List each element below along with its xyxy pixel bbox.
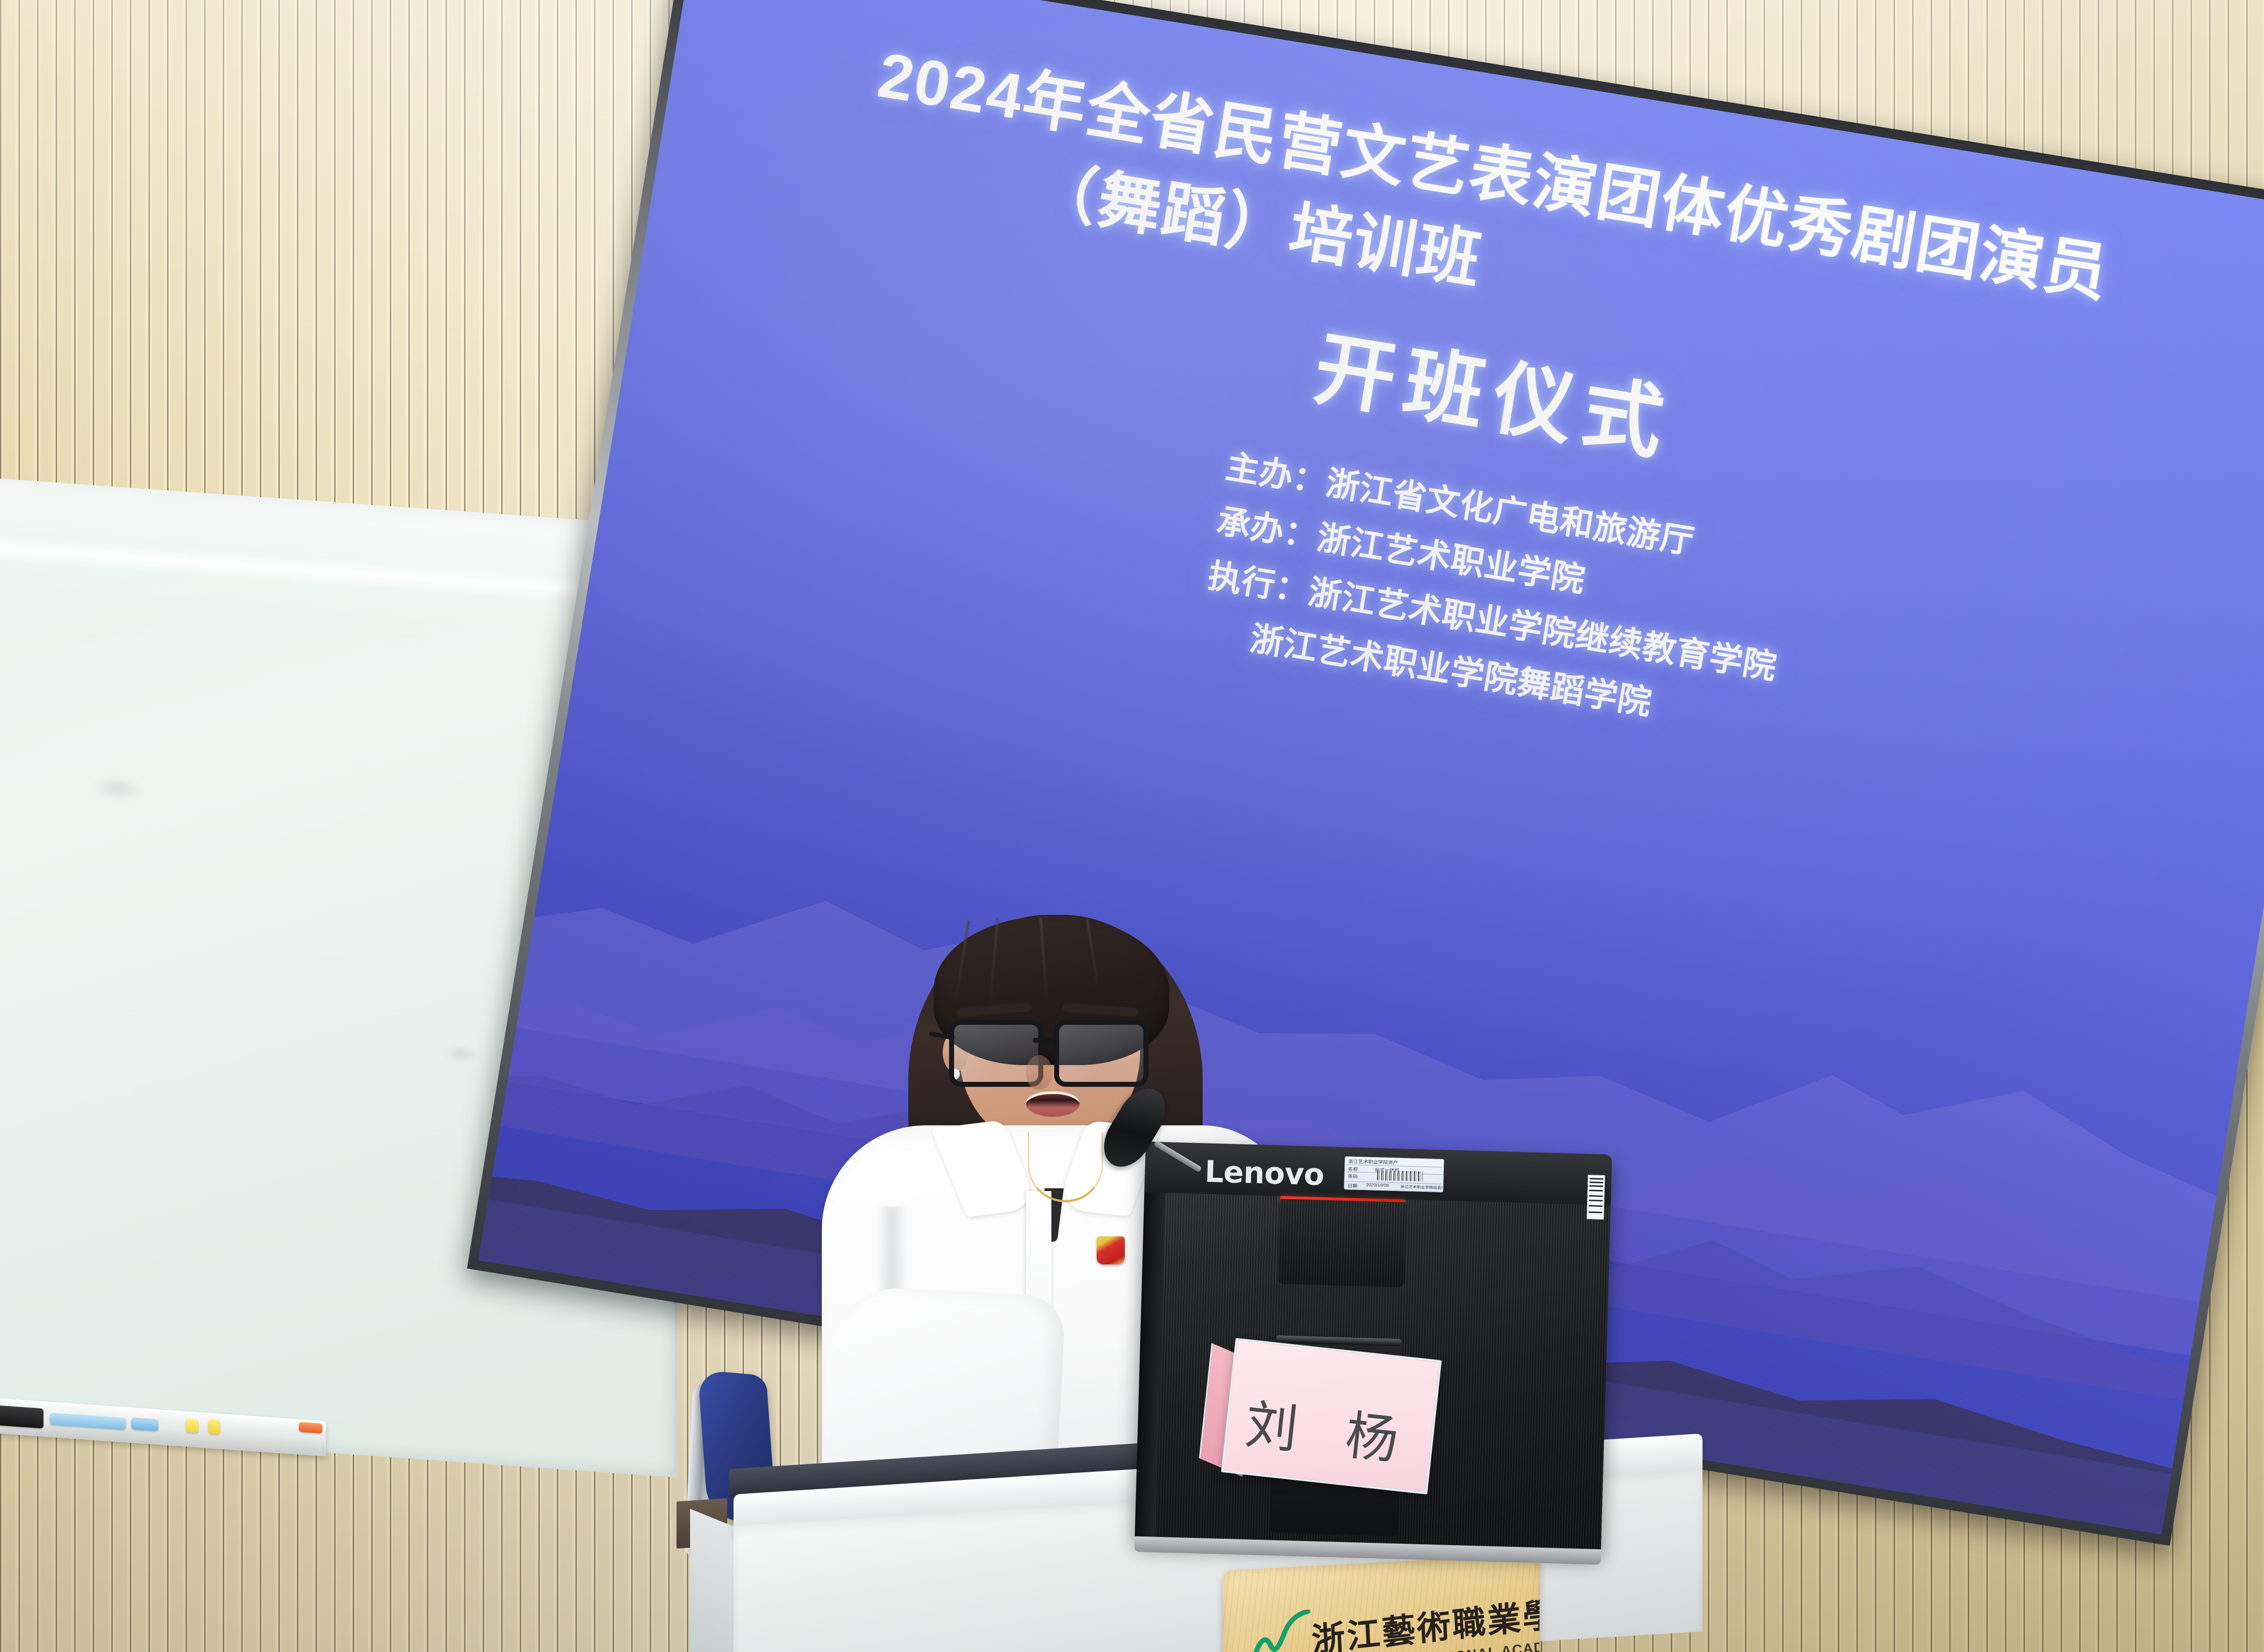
asset-date-label: 日期 bbox=[1348, 1182, 1357, 1189]
eyeglass-bridge bbox=[1033, 1038, 1055, 1043]
monitor-stand-housing bbox=[1278, 1199, 1407, 1287]
hair-strand bbox=[1039, 917, 1048, 1004]
asset-code-label: 条码 bbox=[1348, 1173, 1357, 1180]
podium-left-side bbox=[690, 1509, 740, 1652]
marker-blue[interactable] bbox=[131, 1417, 158, 1431]
whiteboard-eraser[interactable] bbox=[0, 1404, 43, 1428]
lenovo-logo: Lenovo bbox=[1204, 1154, 1325, 1192]
hair-strand bbox=[955, 921, 970, 1002]
name-card-face: 刘 杨 bbox=[1221, 1338, 1442, 1494]
asset-date-value: 2020/10/08 bbox=[1366, 1183, 1389, 1188]
eyeglass-lens-right bbox=[1054, 1020, 1148, 1087]
hair-strand bbox=[988, 918, 998, 1009]
presentation-room-photo: 2024年全省民营文艺表演团体优秀剧团演员 （舞蹈）培训班 开班仪式 主办：浙江… bbox=[0, 0, 2264, 1652]
microphone-stem bbox=[1153, 1140, 1202, 1173]
name-card-name: 刘 杨 bbox=[1225, 1380, 1435, 1477]
asset-dept-value: 浙江艺术职业学院信息中心 bbox=[1401, 1184, 1444, 1191]
gooseneck-microphone[interactable] bbox=[1100, 1085, 1204, 1220]
asset-tag-sticker: 浙江艺术职业学院资产 名称 台式一体机 条码 日期 2020/10/08 浙江艺… bbox=[1344, 1156, 1444, 1192]
party-emblem-pin bbox=[1097, 1236, 1125, 1264]
hair-strand bbox=[1086, 920, 1101, 996]
microphone-windscreen bbox=[1094, 1080, 1175, 1176]
whiteboard-smudge bbox=[91, 775, 145, 802]
marker-blue[interactable] bbox=[50, 1412, 126, 1430]
academy-plaque: 浙江藝術職業學院 ZHEJIANG VOCATIONAL ACADEMY OF … bbox=[1222, 1554, 1540, 1652]
nose bbox=[1026, 1055, 1052, 1090]
slide-heading: 开班仪式 bbox=[1307, 303, 1682, 476]
barcode bbox=[1377, 1170, 1423, 1181]
mouth bbox=[1026, 1091, 1079, 1117]
marker-orange[interactable] bbox=[299, 1422, 322, 1434]
marker-yellow[interactable] bbox=[208, 1419, 220, 1435]
monitor-qr-sticker bbox=[1587, 1175, 1605, 1220]
whiteboard-smudge bbox=[444, 1044, 480, 1064]
desktop-monitor[interactable]: Lenovo 浙江艺术职业学院资产 名称 台式一体机 条码 日期 2020/10… bbox=[1135, 1142, 1612, 1553]
marker-yellow[interactable] bbox=[186, 1418, 198, 1433]
name-card: 刘 杨 bbox=[1198, 1335, 1437, 1490]
